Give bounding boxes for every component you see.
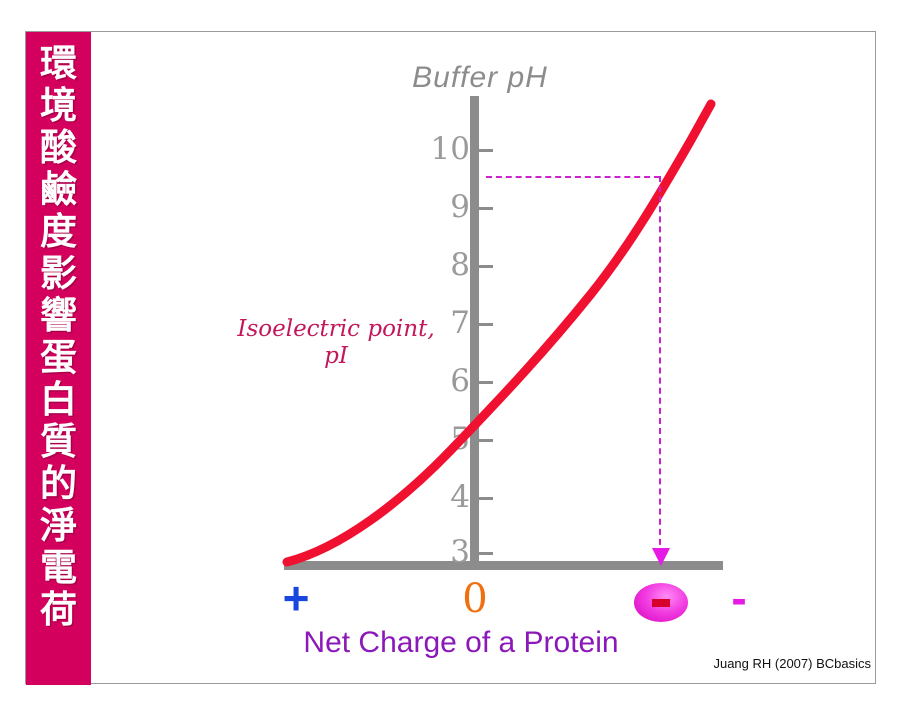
y-tick-mark xyxy=(479,381,493,384)
slide-frame: 環境酸鹼度影響蛋白質的淨電荷 Buffer pH 10 9 8 7 6 5 4 … xyxy=(25,31,876,684)
y-axis-line xyxy=(470,96,479,568)
isoelectric-point-line2: pI xyxy=(324,343,348,369)
zero-charge-label: 0 xyxy=(450,579,500,619)
y-tick-label-9: 9 xyxy=(426,192,470,223)
x-axis-label: Net Charge of a Protein xyxy=(211,626,711,660)
isoelectric-point-line1: Isoelectric point, xyxy=(237,316,434,342)
y-tick-mark xyxy=(479,207,493,210)
y-tick-label-5: 5 xyxy=(426,424,470,455)
y-tick-label-3: 3 xyxy=(426,537,470,568)
vertical-title-bar: 環境酸鹼度影響蛋白質的淨電荷 xyxy=(26,32,91,685)
vertical-title-text: 環境酸鹼度影響蛋白質的淨電荷 xyxy=(26,42,91,630)
chart-plot-area: Buffer pH 10 9 8 7 6 5 4 3 Isoelectric p… xyxy=(91,32,877,685)
isoelectric-point-label: Isoelectric point, pI xyxy=(226,316,446,370)
y-tick-mark xyxy=(479,265,493,268)
y-tick-label-10: 10 xyxy=(426,134,470,165)
y-tick-label-4: 4 xyxy=(426,482,470,513)
y-tick-label-6: 6 xyxy=(426,366,470,397)
y-tick-mark xyxy=(479,149,493,152)
y-tick-mark xyxy=(479,439,493,442)
y-tick-mark xyxy=(479,497,493,500)
protein-blob-icon xyxy=(634,583,688,622)
credit-line: Juang RH (2007) BCbasics xyxy=(651,656,871,671)
chart-title: Buffer pH xyxy=(360,61,600,95)
negative-charge-label: - xyxy=(714,575,764,621)
ph9-horizontal-guide-line xyxy=(486,176,660,178)
down-arrow-icon xyxy=(652,548,670,566)
y-tick-mark xyxy=(479,323,493,326)
ph9-vertical-guide-line xyxy=(659,176,661,555)
positive-charge-label: + xyxy=(271,575,321,621)
y-tick-mark xyxy=(479,552,493,555)
protein-blob-minus-icon xyxy=(652,599,670,607)
y-tick-label-8: 8 xyxy=(426,250,470,281)
